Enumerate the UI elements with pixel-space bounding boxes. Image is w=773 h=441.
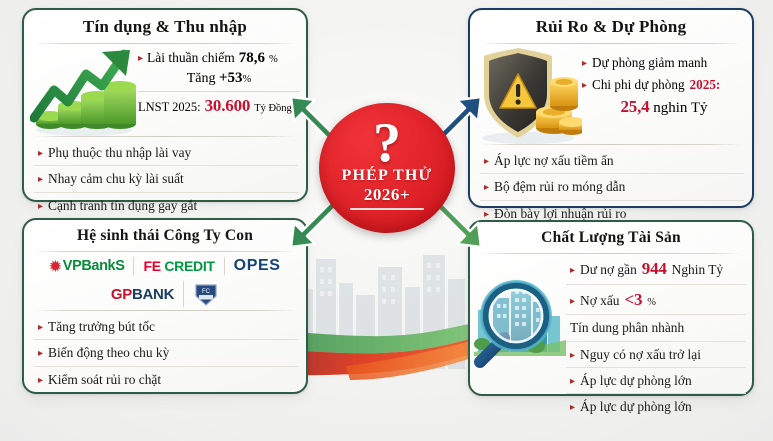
panel-title-subsidiary-ecosystem: Hệ sinh thái Công Ty Con [24,220,306,251]
growth-value: +53 [219,70,243,86]
provision-cost-year: 2025: [690,77,721,93]
provision-cost-value: 25,4 [620,97,649,116]
gpbank-logo: GPBANK [102,286,183,303]
bullet-marker: ▸ [38,323,43,333]
asset-quality-body: ▸ Dư nợ gần 944 Nghin Tỷ ▸ Nợ xấu <3% Tí… [470,254,752,420]
logo-row-1: ✹ VPBankS FE CREDIT OPES [34,254,296,278]
list-item: ▸ Nguy có nợ xấu trở lại [566,342,746,368]
gpbank-logo-part2: BANK [132,286,174,303]
list-item-label: Nhay cảm chu kỳ lài suất [48,171,184,186]
lnst-value: 30.600 [205,96,251,116]
provision-cost-unit: nghin Tỷ [653,100,707,116]
list-item: ▸ Biến động theo chu kỳ [34,340,298,366]
outstanding-loan-unit: Nghin Tỷ [672,262,723,277]
growth-unit: % [243,74,252,85]
net-interest-share-value: 78,6 [239,50,265,67]
lnst-unit: Tỷ Đồng [254,103,292,114]
credit-income-bullet-list: ▸ Phụ thuộc thu nhập lài vay ▸ Nhay cảm … [24,137,306,218]
list-item-label: Đòn bày lợi nhuận rủi ro [494,206,626,221]
growth-stat: Tăng +53% [138,67,300,91]
list-item: ▸ Nhay cảm chu kỳ lài suất [34,166,298,192]
list-item: ▸ Dư nợ gần 944 Nghin Tỷ [566,254,746,285]
magnifier-buildings-icon [474,254,566,420]
net-interest-share-label: Lài thuần chiếm [147,50,235,66]
center-underline [350,208,424,210]
list-item: ▸ Áp lực nợ xấu tiềm ẩn [480,148,744,174]
center-title-line2: 2026+ [364,185,410,205]
list-item-label: Nguy có nợ xấu trở lại [580,347,701,362]
lnst-label: LNST 2025: [138,100,201,115]
list-item: ▸ Áp lực dự phòng lớn [566,394,746,419]
provision-decrease-stat: ▸ Dự phòng giảm manh [582,52,746,74]
infographic-canvas: Tín dụng & Thu nhập [0,0,773,441]
opes-logo-text: OPES [234,257,281,275]
center-focus: ? PHÉP THỬ 2026+ [311,103,463,237]
list-item: Tín dung phân nhành [566,315,746,341]
bullet-marker: ▸ [570,297,575,307]
list-item-label: Biến động theo chu kỳ [48,345,169,360]
bullet-marker: ▸ [38,376,43,386]
panel-title-credit-income: Tín dụng & Thu nhập [24,10,306,43]
list-item: ▸ Cạnh tranh tín dụng gay gắt [34,193,298,218]
bullet-marker: ▸ [484,210,489,220]
list-item: ▸ Áp lực dự phòng lớn [566,368,746,394]
npl-ratio-value: <3 [624,290,642,310]
fecredit-logo: FE CREDIT [134,258,223,274]
center-title-line1: PHÉP THỬ [342,167,433,185]
outstanding-loan-value: 944 [642,259,667,279]
bullet-marker: ▸ [582,81,587,91]
list-item-label: Phụ thuộc thu nhập lài vay [48,145,191,160]
panel-risk-provision: Rủi Ro & Dự Phòng [468,8,754,208]
list-item: ▸ Bộ đệm rủi ro móng dẫn [480,174,744,200]
center-circle: ? PHÉP THỬ 2026+ [319,103,455,233]
bullet-marker: ▸ [484,183,489,193]
fecredit-logo-part1: FE [143,258,160,274]
net-interest-share-unit: % [269,54,278,65]
bullet-marker: ▸ [570,403,575,413]
list-item: ▸ Kiểm soát rủi ro chặt [34,367,298,392]
bullet-marker: ▸ [38,202,43,212]
opes-logo: OPES [225,257,290,275]
bullet-marker: ▸ [570,377,575,387]
list-item: ▸ Nợ xấu <3% [566,285,746,316]
list-item-label: Áp lực dự phòng lớn [580,373,692,388]
list-item-label: Dư nợ gần [580,262,637,277]
risk-provision-highlight: ▸ Dự phòng giảm manh ▸ Chi phi dự phòng … [470,44,752,144]
bullet-marker: ▸ [570,351,575,361]
list-item-label: Tín dung phân nhành [570,320,684,335]
logo-row-2: GPBANK FC [34,278,296,310]
shield-badge-icon: FC [193,281,219,307]
list-item: ▸ Phụ thuộc thu nhập lài vay [34,140,298,166]
provision-cost-label: Chi phi dự phòng [592,77,685,93]
provision-cost-value-row: 25,4 nghin Tỷ [582,96,746,117]
subsidiary-bullet-list: ▸ Tăng trưởng bút tốc ▸ Biến động theo c… [24,311,306,392]
provision-cost-stat: ▸ Chi phi dự phòng 2025: [582,74,746,96]
risk-provision-bullet-list: ▸ Áp lực nợ xấu tiềm ẩn ▸ Bộ đệm rủi ro … [470,145,752,226]
net-interest-share-stat: ▸ Lài thuần chiếm 78,6 % [138,50,300,67]
bullet-marker: ▸ [38,149,43,159]
provision-decrease-label: Dự phòng giảm manh [592,55,707,71]
list-item-label: Tăng trưởng bút tốc [48,319,155,334]
shield-badge-text: FC [202,289,211,295]
fecredit-logo-part2: CREDIT [164,258,214,274]
panel-title-asset-quality: Chất Lượng Tài Sản [470,222,752,253]
vpbanks-mark-icon: ✹ [49,258,60,275]
list-item-label: Cạnh tranh tín dụng gay gắt [48,198,197,213]
lnst-stat: LNST 2025: 30.600 Tỷ Đồng [138,91,300,116]
npl-ratio-unit: % [647,297,656,309]
panel-asset-quality: Chất Lượng Tài Sản [468,220,754,396]
list-item-label: Nợ xấu [580,293,619,308]
growth-label: Tăng [187,71,216,86]
panel-subsidiary-ecosystem: Hệ sinh thái Công Ty Con ✹ VPBankS FE CR… [22,218,308,394]
list-item: ▸ Tăng trưởng bút tốc [34,314,298,340]
growth-chart-coins-icon [30,46,138,136]
list-item-label: Kiểm soát rủi ro chặt [48,372,161,387]
shield-badge-logo: FC [184,281,228,307]
panel-credit-income: Tín dụng & Thu nhập [22,8,308,202]
bullet-marker: ▸ [38,349,43,359]
gpbank-logo-part1: GP [111,286,132,303]
bullet-marker: ▸ [138,54,143,64]
list-item-label: Áp lực nợ xấu tiềm ẩn [494,153,614,168]
vpbanks-logo-text: VPBankS [63,258,125,274]
bullet-marker: ▸ [582,59,587,69]
vpbanks-logo: ✹ VPBankS [40,258,133,275]
subsidiary-logo-grid: ✹ VPBankS FE CREDIT OPES [24,252,306,310]
credit-income-highlight: ▸ Lài thuần chiếm 78,6 % Tăng +53% LNST … [24,44,306,136]
bullet-marker: ▸ [570,266,575,276]
list-item-label: Áp lực dự phòng lớn [580,399,692,414]
panel-title-risk-provision: Rủi Ro & Dự Phòng [470,10,752,43]
bullet-marker: ▸ [484,157,489,167]
shield-warning-coins-icon [476,46,582,144]
question-mark-icon: ? [373,122,401,166]
list-item-label: Bộ đệm rủi ro móng dẫn [494,179,625,194]
asset-quality-row-list: ▸ Dư nợ gần 944 Nghin Tỷ ▸ Nợ xấu <3% Tí… [566,254,746,420]
bullet-marker: ▸ [38,175,43,185]
